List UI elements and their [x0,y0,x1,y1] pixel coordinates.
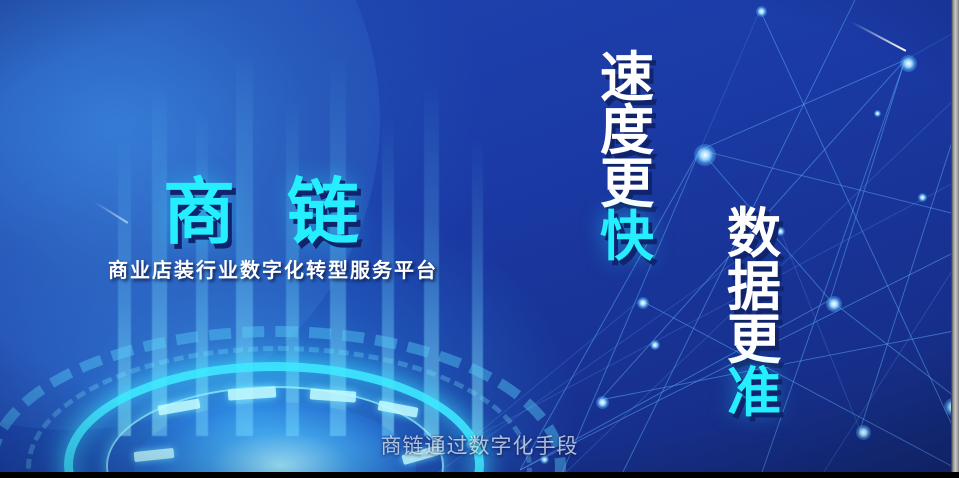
slogan-char-accent: 快 [600,211,654,264]
page-bottom-edge [0,472,959,478]
slogan-char: 更 [727,314,781,367]
slogan-char: 速 [600,52,654,105]
video-caption: 商链通过数字化手段 [0,430,959,460]
slogan-char: 数 [727,208,781,261]
slogan-char: 度 [600,105,654,158]
page-right-edge [951,0,959,478]
slogan-char: 据 [727,261,781,314]
background-vignette [0,0,959,478]
brand-tagline: 商业店装行业数字化转型服务平台 [108,254,438,283]
slogan-char-accent: 准 [727,367,781,420]
vertical-slogan-speed: 速 度 更 快 [600,52,654,264]
vertical-slogan-data: 数 据 更 准 [727,208,781,420]
promo-banner: 商 链 商业店装行业数字化转型服务平台 速 度 更 快 数 据 更 准 商链通过… [0,0,959,478]
brand-title: 商 链 [163,153,375,258]
slogan-char: 更 [600,158,654,211]
